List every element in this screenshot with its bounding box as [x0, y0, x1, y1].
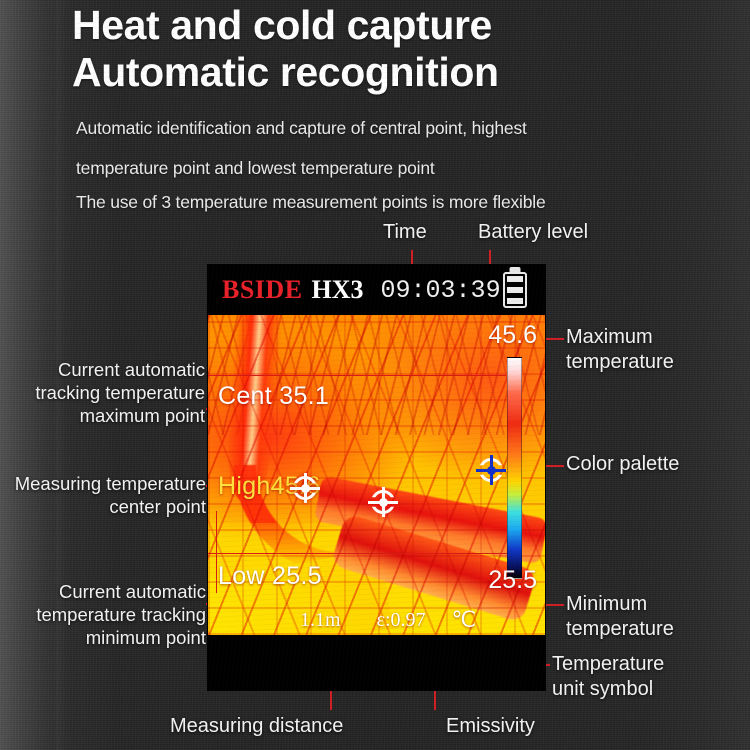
battery-icon [503, 272, 527, 308]
brand-logo: BSIDE [222, 275, 303, 305]
device-footer-bezel [208, 635, 545, 690]
device-info-bar: 1.1m ε:0.97 ℃ [208, 607, 545, 633]
headline-line-1: Heat and cold capture [72, 2, 492, 48]
device-status-bar: BSIDE HX3 09:03:39 [208, 265, 545, 315]
subtitle-line-2: temperature point and lowest temperature… [76, 158, 435, 179]
palette-min-value: 25.5 [488, 566, 537, 595]
page-title: Heat and cold capture Automatic recognit… [72, 2, 499, 96]
readout-center: Cent 35.1 [218, 381, 329, 411]
readout-low: Low 25.5 [218, 561, 329, 591]
thermal-camera-screen: BSIDE HX3 09:03:39 Cent 35. [208, 265, 545, 690]
emissivity-value: ε:0.97 [377, 609, 426, 632]
callout-minimum-temperature: Minimum temperature [566, 592, 674, 642]
callout-tracking-max-point: Current automatic tracking temperature m… [30, 358, 205, 427]
callout-battery-level: Battery level [478, 220, 588, 245]
callout-tracking-min-point: Current automatic temperature tracking m… [18, 580, 206, 649]
device-model: HX3 [312, 275, 364, 305]
headline-line-2: Automatic recognition [72, 49, 499, 96]
color-palette-bar[interactable] [507, 357, 522, 579]
clock-display: 09:03:39 [381, 276, 501, 305]
measuring-distance-value: 1.1m [300, 609, 341, 632]
callout-measuring-center-point: Measuring temperature center point [14, 472, 206, 518]
subtitle-line-1: Automatic identification and capture of … [76, 118, 527, 139]
thermal-image-view[interactable]: Cent 35.1 High45.6 Low 25.5 45.6 25.5 1.… [208, 315, 545, 635]
palette-max-value: 45.6 [488, 321, 537, 350]
poster-background: Heat and cold capture Automatic recognit… [0, 0, 750, 750]
callout-time: Time [383, 220, 427, 245]
callout-color-palette: Color palette [566, 452, 679, 477]
subtitle-line-3: The use of 3 temperature measurement poi… [76, 192, 545, 213]
center-temperature-marker[interactable] [368, 487, 398, 517]
callout-measuring-distance: Measuring distance [170, 714, 343, 739]
callout-temperature-unit-symbol: Temperature unit symbol [552, 652, 664, 702]
min-temperature-marker[interactable] [476, 455, 506, 485]
callout-maximum-temperature: Maximum temperature [566, 325, 674, 375]
max-temperature-marker[interactable] [290, 473, 320, 503]
callout-emissivity: Emissivity [446, 714, 535, 739]
temperature-unit-value: ℃ [452, 607, 477, 633]
